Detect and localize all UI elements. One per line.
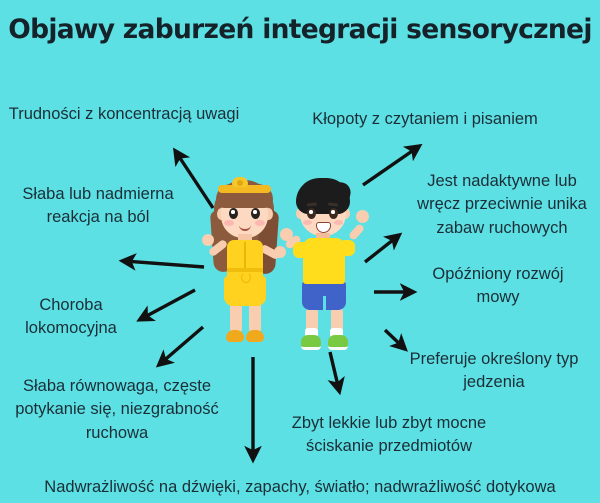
girl-character <box>202 172 288 350</box>
girl-eye-right <box>251 208 260 219</box>
girl-belt-knot <box>241 272 251 283</box>
boy-sleeve-right <box>339 240 355 256</box>
boy-character <box>284 176 372 352</box>
boy-shoe-left <box>301 335 321 350</box>
girl-hand-left <box>202 234 214 246</box>
girl-hair-bow <box>232 177 248 187</box>
symptom-label-speech-delay: Opóźniony rozwój mowy <box>414 263 582 310</box>
boy-shoe-right <box>328 335 348 350</box>
boy-eye-right <box>329 208 338 219</box>
infographic-canvas: Objawy zaburzeń integracji sensorycznej <box>0 0 600 503</box>
girl-eye-left <box>229 208 238 219</box>
arrow-to-pain <box>124 261 204 267</box>
girl-shoe-left <box>226 330 244 342</box>
symptom-label-motion-sickness: Choroba lokomocyjna <box>8 294 134 341</box>
symptom-label-food-preference: Preferuje określony typ jedzenia <box>396 348 592 395</box>
boy-arm-right <box>348 223 365 241</box>
arrow-to-grip <box>330 352 339 390</box>
symptom-label-concentration: Trudności z koncentracją uwagi <box>8 103 240 126</box>
page-title: Objawy zaburzeń integracji sensorycznej <box>0 14 600 45</box>
symptom-label-balance: Słaba równowaga, częste potykanie się, n… <box>0 375 234 445</box>
arrow-to-balance <box>160 327 203 364</box>
symptom-label-hyperactivity: Jest nadaktywne lub wręcz przeciwnie uni… <box>406 170 598 240</box>
girl-cheek-left <box>224 220 234 226</box>
boy-cheek-right <box>334 220 343 225</box>
boy-fringe <box>297 185 349 203</box>
boy-eye-left <box>307 208 316 219</box>
arrow-to-food <box>385 330 404 348</box>
arrow-to-motion-sickness <box>141 290 195 319</box>
children-illustration <box>198 168 378 354</box>
symptom-label-reading-writing: Kłopoty z czytaniem i pisaniem <box>292 108 558 131</box>
boy-hand-left <box>280 228 293 241</box>
boy-hand-right <box>356 210 369 223</box>
girl-dress-seam <box>244 242 246 270</box>
boy-shorts-split <box>323 296 326 310</box>
boy-cheek-left <box>303 220 312 225</box>
symptom-label-grip-force: Zbyt lekkie lub zbyt mocne ściskanie prz… <box>272 412 506 459</box>
boy-sleeve-left <box>293 242 309 258</box>
symptom-label-sensory-hypersensitivity: Nadwrażliwość na dźwięki, zapachy, świat… <box>0 476 600 499</box>
girl-shoe-right <box>246 330 264 342</box>
girl-cheek-right <box>255 220 265 226</box>
symptom-label-pain-reaction: Słaba lub nadmierna reakcja na ból <box>2 183 194 230</box>
